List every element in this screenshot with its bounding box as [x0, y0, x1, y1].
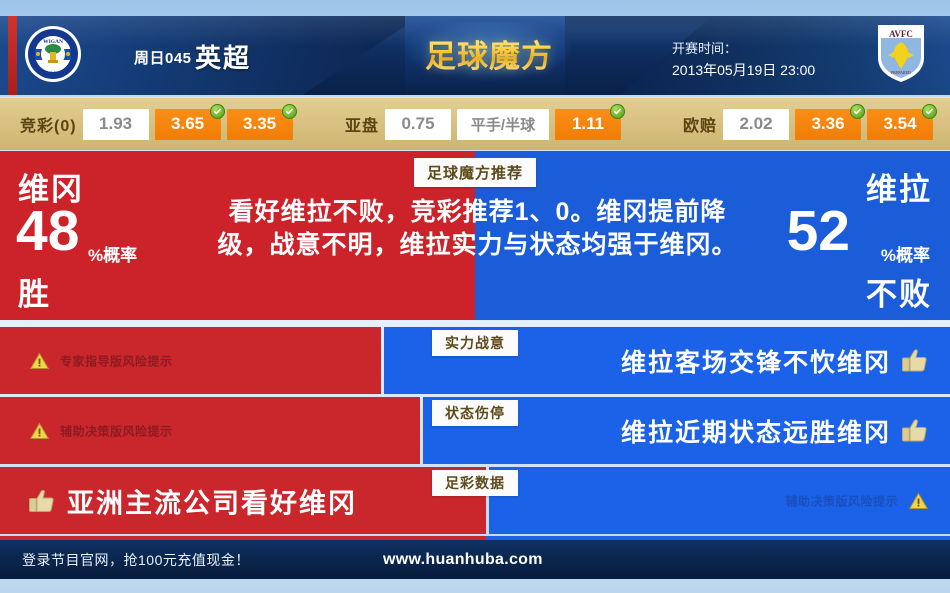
odds-cell[interactable]: 3.54 — [867, 109, 933, 140]
odds-group-jingcai: 竞彩(0) 1.93 3.65 3.35 — [20, 98, 293, 150]
away-probability-suffix: %概率 — [881, 241, 930, 266]
thumbs-up-icon — [28, 488, 55, 513]
odds-cell[interactable]: 1.93 — [83, 109, 149, 140]
odds-group-title: 竞彩(0) — [20, 112, 77, 136]
check-badge-icon — [850, 104, 865, 119]
league-name: 英超 — [195, 38, 251, 75]
footer-bar: 登录节目官网，抢100元充值现金！ www.huanhuba.com — [0, 540, 950, 579]
insight-headline: 维拉近期状态远胜维冈 — [621, 413, 928, 449]
risk-warning: 辅助决策版风险提示 — [785, 492, 928, 509]
odds-cell[interactable]: 平手/半球 — [457, 109, 549, 140]
risk-warning-text: 专家指导版风险提示 — [60, 352, 173, 369]
home-outcome: 胜 — [18, 269, 51, 314]
away-probability: 52 — [787, 203, 850, 260]
insight-headline-text: 亚洲主流公司看好维冈 — [67, 481, 357, 520]
odds-value: 3.54 — [883, 114, 916, 134]
check-badge-icon — [922, 104, 937, 119]
odds-value: 3.36 — [811, 114, 844, 134]
svg-text:AVFC: AVFC — [889, 29, 913, 39]
svg-text:WIGAN: WIGAN — [43, 39, 63, 45]
odds-value: 3.35 — [243, 114, 276, 134]
odds-group-oupei: 欧赔 2.02 3.36 3.54 — [683, 98, 933, 150]
row-tag-strength: 实力战意 — [432, 330, 518, 356]
insight-headline: 维拉客场交锋不忺维冈 — [621, 343, 928, 379]
risk-warning: 辅助决策版风险提示 — [30, 422, 173, 439]
insight-headline-text: 维拉客场交锋不忺维冈 — [621, 343, 891, 379]
odds-cell[interactable]: 3.36 — [795, 109, 861, 140]
footer-url[interactable]: www.huanhuba.com — [383, 551, 543, 569]
warning-triangle-icon — [30, 422, 49, 439]
thumbs-up-icon — [901, 418, 928, 443]
odds-cell[interactable]: 1.11 — [555, 109, 621, 140]
odds-cell[interactable]: 3.35 — [227, 109, 293, 140]
check-badge-icon — [210, 104, 225, 119]
odds-group-title: 亚盘 — [345, 112, 379, 136]
insight-headline-text: 维拉近期状态远胜维冈 — [621, 413, 891, 449]
wigan-athletic-crest-icon: WIGAN ATHLETIC — [24, 25, 82, 83]
odds-cell[interactable]: 2.02 — [723, 109, 789, 140]
row-tag-data: 足彩数据 — [432, 470, 518, 496]
odds-cell[interactable]: 3.65 — [155, 109, 221, 140]
home-probability: 48 — [16, 203, 79, 260]
insight-headline: 亚洲主流公司看好维冈 — [28, 481, 357, 520]
odds-group-title: 欧赔 — [683, 112, 717, 136]
footer-promo-text: 登录节目官网，抢100元充值现金！ — [22, 550, 250, 570]
warning-triangle-icon — [30, 352, 49, 369]
odds-value: 1.11 — [572, 114, 604, 134]
aston-villa-crest-icon: AVFC PREPARED — [875, 22, 927, 84]
header-accent-stripe — [8, 16, 17, 95]
svg-text:ATHLETIC: ATHLETIC — [40, 72, 66, 77]
brand-logo-text: 足球魔方 — [414, 30, 564, 76]
thumbs-up-icon — [901, 348, 928, 373]
away-outcome: 不败 — [866, 269, 932, 314]
check-badge-icon — [282, 104, 297, 119]
home-probability-suffix: %概率 — [88, 241, 137, 266]
odds-bar: 竞彩(0) 1.93 3.65 3.35 亚盘 0.75 平手/半球 1.11 … — [0, 97, 950, 150]
kickoff-label: 开赛时间： — [672, 38, 737, 57]
risk-warning-text: 辅助决策版风险提示 — [60, 422, 173, 439]
risk-warning: 专家指导版风险提示 — [30, 352, 173, 369]
svg-text:PREPARED: PREPARED — [891, 70, 911, 75]
away-team-name: 维拉 — [866, 164, 932, 209]
prediction-text: 看好维拉不败，竞彩推荐1、0。维冈提前降级，战意不明，维拉实力与状态均强于维冈。 — [205, 196, 750, 262]
odds-group-yapan: 亚盘 0.75 平手/半球 1.11 — [345, 98, 621, 150]
match-number: 周日045 — [134, 47, 192, 68]
odds-cell[interactable]: 0.75 — [385, 109, 451, 140]
check-badge-icon — [610, 104, 625, 119]
broadcast-graphic: WIGAN ATHLETIC AVFC PREPARED 周日045 英超 足球… — [0, 0, 950, 593]
prediction-tag: 足球魔方推荐 — [414, 158, 536, 187]
odds-value: 3.65 — [171, 114, 204, 134]
row-tag-form: 状态伤停 — [432, 400, 518, 426]
risk-warning-text: 辅助决策版风险提示 — [785, 492, 898, 509]
warning-triangle-icon — [909, 492, 928, 509]
kickoff-time: 2013年05月19日 23:00 — [672, 60, 815, 80]
